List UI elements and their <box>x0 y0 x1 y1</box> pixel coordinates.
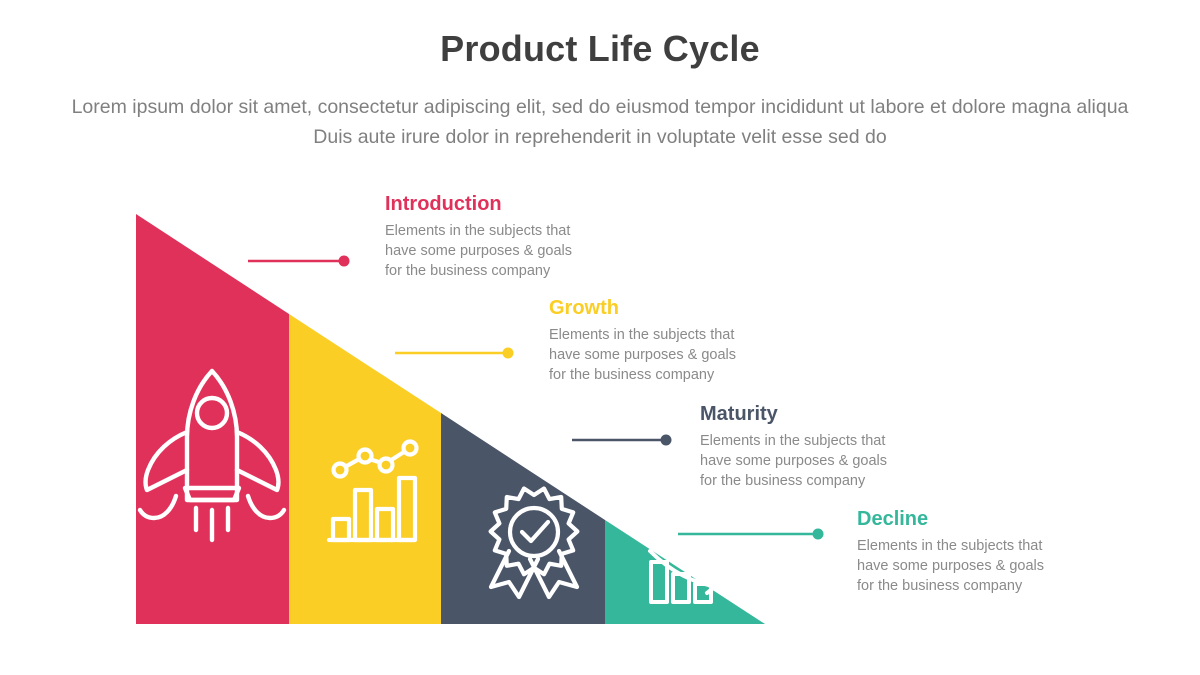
product-life-cycle-diagram: Introduction Elements in the subjects th… <box>0 0 1200 675</box>
connector-dot-growth <box>503 348 514 359</box>
connector-dot-maturity <box>661 435 672 446</box>
connector-introduction <box>248 256 350 267</box>
connector-dot-introduction <box>339 256 350 267</box>
stage-info-growth: Growth Elements in the subjects that hav… <box>549 297 764 385</box>
connector-dot-decline <box>813 529 824 540</box>
stage-description-decline: Elements in the subjects that have some … <box>857 536 1072 596</box>
stage-panel-growth[interactable] <box>289 314 441 624</box>
stage-description-growth: Elements in the subjects that have some … <box>549 325 764 385</box>
connector-maturity <box>572 435 672 446</box>
stage-title-decline: Decline <box>857 508 1072 530</box>
stage-title-maturity: Maturity <box>700 403 915 425</box>
stage-info-introduction: Introduction Elements in the subjects th… <box>385 193 600 281</box>
stage-info-decline: Decline Elements in the subjects that ha… <box>857 508 1072 596</box>
stage-description-maturity: Elements in the subjects that have some … <box>700 431 915 491</box>
connector-growth <box>395 348 514 359</box>
connector-decline <box>678 529 824 540</box>
stage-description-introduction: Elements in the subjects that have some … <box>385 221 600 281</box>
stage-panel-introduction[interactable] <box>136 214 289 624</box>
stage-info-maturity: Maturity Elements in the subjects that h… <box>700 403 915 491</box>
stage-title-growth: Growth <box>549 297 764 319</box>
stage-title-introduction: Introduction <box>385 193 600 215</box>
